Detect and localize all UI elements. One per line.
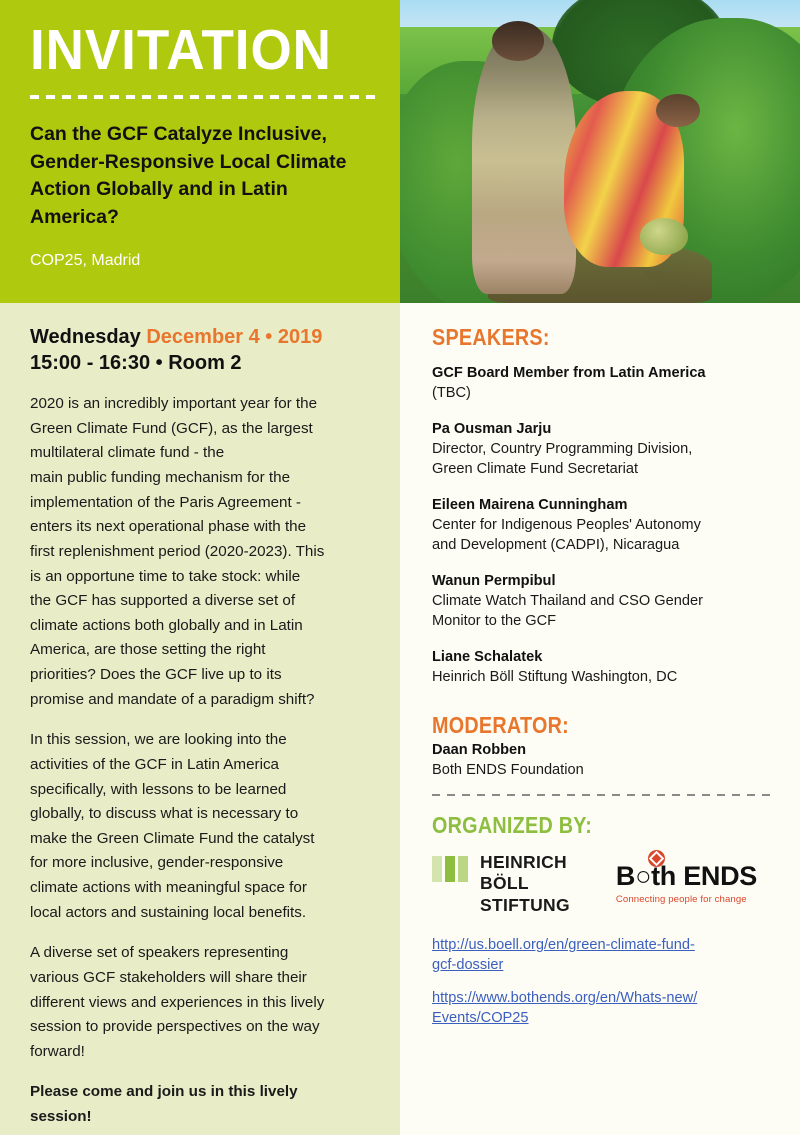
invitation-title: INVITATION: [30, 22, 346, 79]
speaker-role: Heinrich Böll Stiftung Washington, DC: [432, 667, 774, 687]
speaker-item: GCF Board Member from Latin America (TBC…: [432, 364, 774, 403]
body-paragraph-3: A diverse set of speakers representing v…: [30, 941, 372, 1064]
link-bothends-events[interactable]: https://www.bothends.org/en/Whats-new/ E…: [432, 989, 774, 1028]
both-ends-diamond-icon: [648, 850, 665, 867]
speaker-role: Center for Indigenous Peoples' Autonomy …: [432, 515, 774, 555]
left-column: INVITATION Can the GCF Catalyze Inclusiv…: [0, 0, 400, 1135]
right-column: SPEAKERS: GCF Board Member from Latin Am…: [400, 0, 800, 1135]
hbs-logo-text: HEINRICH BÖLL STIFTUNG: [480, 852, 570, 916]
hbs-bar-3: [458, 856, 468, 882]
speaker-item: Liane Schalatek Heinrich Böll Stiftung W…: [432, 648, 774, 687]
moderator-block: MODERATOR: Daan Robben Both ENDS Foundat…: [432, 713, 774, 780]
invitation-flyer: INVITATION Can the GCF Catalyze Inclusiv…: [0, 0, 800, 1135]
event-location-subtitle: COP25, Madrid: [30, 251, 370, 270]
organized-by-heading: ORGANIZED BY:: [432, 813, 726, 838]
links-list: http://us.boell.org/en/green-climate-fun…: [432, 936, 774, 1029]
hbs-bar-1: [432, 856, 442, 882]
both-ends-name: B○th ENDS: [616, 863, 757, 890]
speaker-name: Wanun Permpibul: [432, 572, 774, 591]
speaker-name: Pa Ousman Jarju: [432, 420, 774, 439]
dashed-divider-gray: [432, 794, 776, 796]
event-time-room: 15:00 - 16:30 • Room 2: [30, 351, 372, 377]
body-paragraph-2: In this session, we are looking into the…: [30, 728, 372, 925]
link-boell-dossier[interactable]: http://us.boell.org/en/green-climate-fun…: [432, 936, 774, 975]
dashed-divider-white: [30, 95, 378, 99]
heinrich-boll-stiftung-logo: HEINRICH BÖLL STIFTUNG: [432, 852, 570, 916]
left-body: Wednesday December 4 • 2019 15:00 - 16:3…: [0, 303, 400, 1130]
event-date: December 4 • 2019: [146, 326, 322, 348]
photo-woman-standing: [472, 27, 576, 294]
both-ends-tagline: Connecting people for change: [616, 894, 757, 905]
speakers-list: GCF Board Member from Latin America (TBC…: [432, 364, 774, 686]
body-closing-call: Please come and join us in this lively s…: [30, 1080, 372, 1129]
speaker-role: Climate Watch Thailand and CSO Gender Mo…: [432, 591, 774, 631]
header-block: INVITATION Can the GCF Catalyze Inclusiv…: [0, 0, 400, 303]
photo-woman-standing-head: [492, 21, 544, 60]
speaker-name: GCF Board Member from Latin America: [432, 364, 774, 383]
speaker-item: Eileen Mairena Cunningham Center for Ind…: [432, 496, 774, 555]
speaker-item: Pa Ousman Jarju Director, Country Progra…: [432, 420, 774, 479]
event-date-line: Wednesday December 4 • 2019: [30, 325, 372, 351]
hbs-bar-2: [445, 856, 455, 882]
moderator-role: Both ENDS Foundation: [432, 760, 774, 780]
speaker-item: Wanun Permpibul Climate Watch Thailand a…: [432, 572, 774, 631]
moderator-name: Daan Robben: [432, 741, 774, 760]
header-photo-women-farming: [400, 0, 800, 303]
speaker-name: Eileen Mairena Cunningham: [432, 496, 774, 515]
moderator-heading: MODERATOR:: [432, 713, 726, 738]
event-headline: Can the GCF Catalyze Inclusive, Gender-R…: [30, 121, 370, 232]
organizer-logos: HEINRICH BÖLL STIFTUNG B○th ENDS Connect…: [432, 852, 774, 916]
both-ends-logo: B○th ENDS Connecting people for change: [616, 863, 757, 905]
photo-gourd: [640, 218, 688, 254]
speaker-role: (TBC): [432, 383, 774, 403]
speakers-heading: SPEAKERS:: [432, 325, 726, 350]
event-weekday: Wednesday: [30, 326, 146, 348]
photo-woman-bending-head: [656, 94, 700, 127]
speaker-role: Director, Country Programming Division, …: [432, 439, 774, 479]
speaker-name: Liane Schalatek: [432, 648, 774, 667]
body-paragraph-1: 2020 is an incredibly important year for…: [30, 392, 372, 712]
right-body: SPEAKERS: GCF Board Member from Latin Am…: [400, 303, 800, 1043]
hbs-bars-icon: [432, 856, 468, 882]
organized-by-block: ORGANIZED BY: HEINRICH BÖLL STIFTUNG B○t…: [432, 813, 774, 916]
